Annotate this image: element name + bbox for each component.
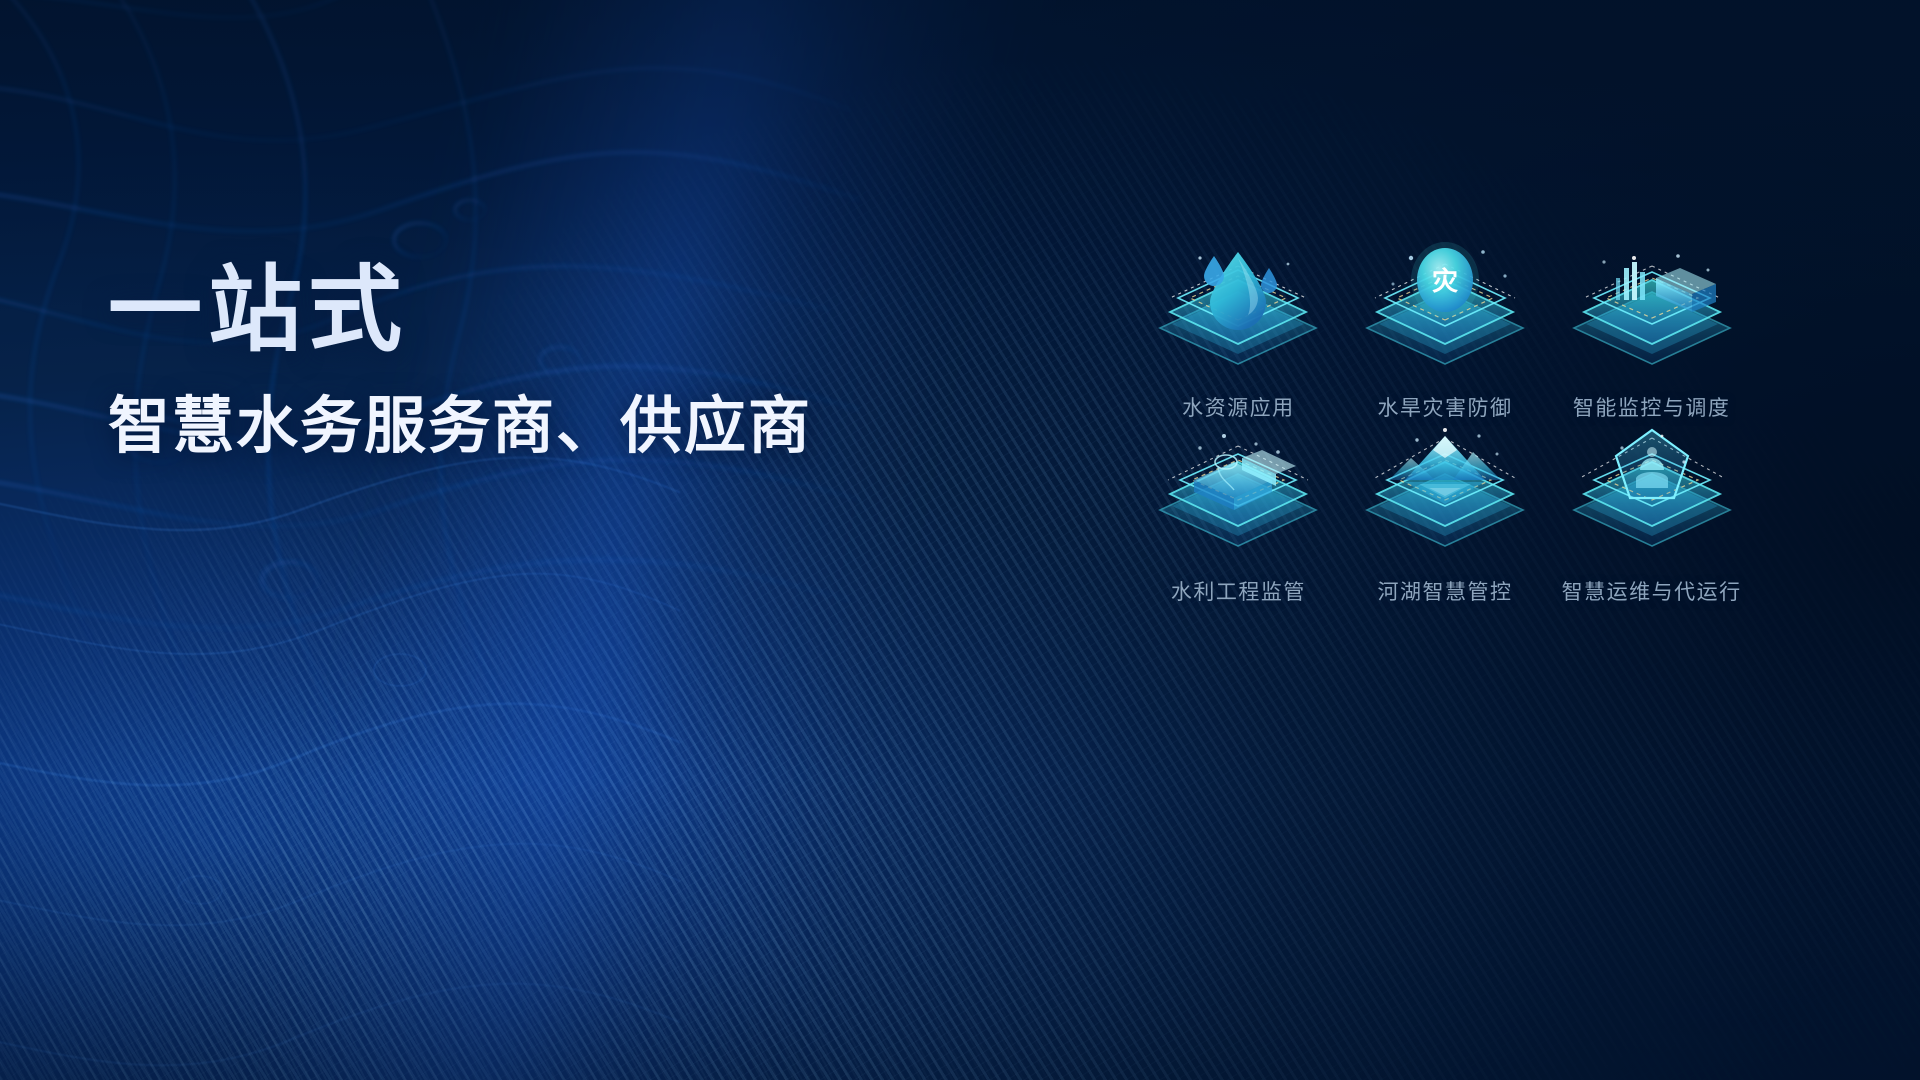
feature-item-hydraulic-engineering[interactable]: 水利工程监管 — [1135, 418, 1342, 600]
feature-item-smart-operations[interactable]: 智慧运维与代运行 — [1548, 418, 1755, 600]
hero-copy: 一站式 智慧水务服务商、供应商 — [108, 262, 1008, 459]
river-mountain-platform-icon — [1345, 418, 1545, 566]
disaster-orb-platform-icon: 灾 — [1345, 236, 1545, 384]
page-title: 一站式 — [108, 262, 1008, 358]
feature-label: 智慧运维与代运行 — [1562, 576, 1742, 606]
feature-item-river-lake-control[interactable]: 河湖智慧管控 — [1342, 418, 1549, 600]
monitoring-city-platform-icon — [1552, 236, 1752, 384]
feature-label: 河湖智慧管控 — [1377, 576, 1512, 606]
disaster-badge-text: 灾 — [1432, 266, 1458, 296]
feature-label: 水利工程监管 — [1171, 576, 1306, 606]
feature-item-intelligent-monitoring[interactable]: 智能监控与调度 — [1548, 236, 1755, 418]
page-subtitle: 智慧水务服务商、供应商 — [108, 394, 1008, 459]
water-drop-platform-icon — [1138, 236, 1338, 384]
feature-grid: 水资源应用 — [1135, 236, 1755, 600]
slide-canvas: 一站式 智慧水务服务商、供应商 — [0, 0, 1920, 1080]
feature-item-water-resource[interactable]: 水资源应用 — [1135, 236, 1342, 418]
feature-item-flood-drought-defense[interactable]: 灾 水旱灾害防御 — [1342, 236, 1549, 418]
dam-engineering-platform-icon — [1138, 418, 1338, 566]
shield-operations-platform-icon — [1552, 418, 1752, 566]
